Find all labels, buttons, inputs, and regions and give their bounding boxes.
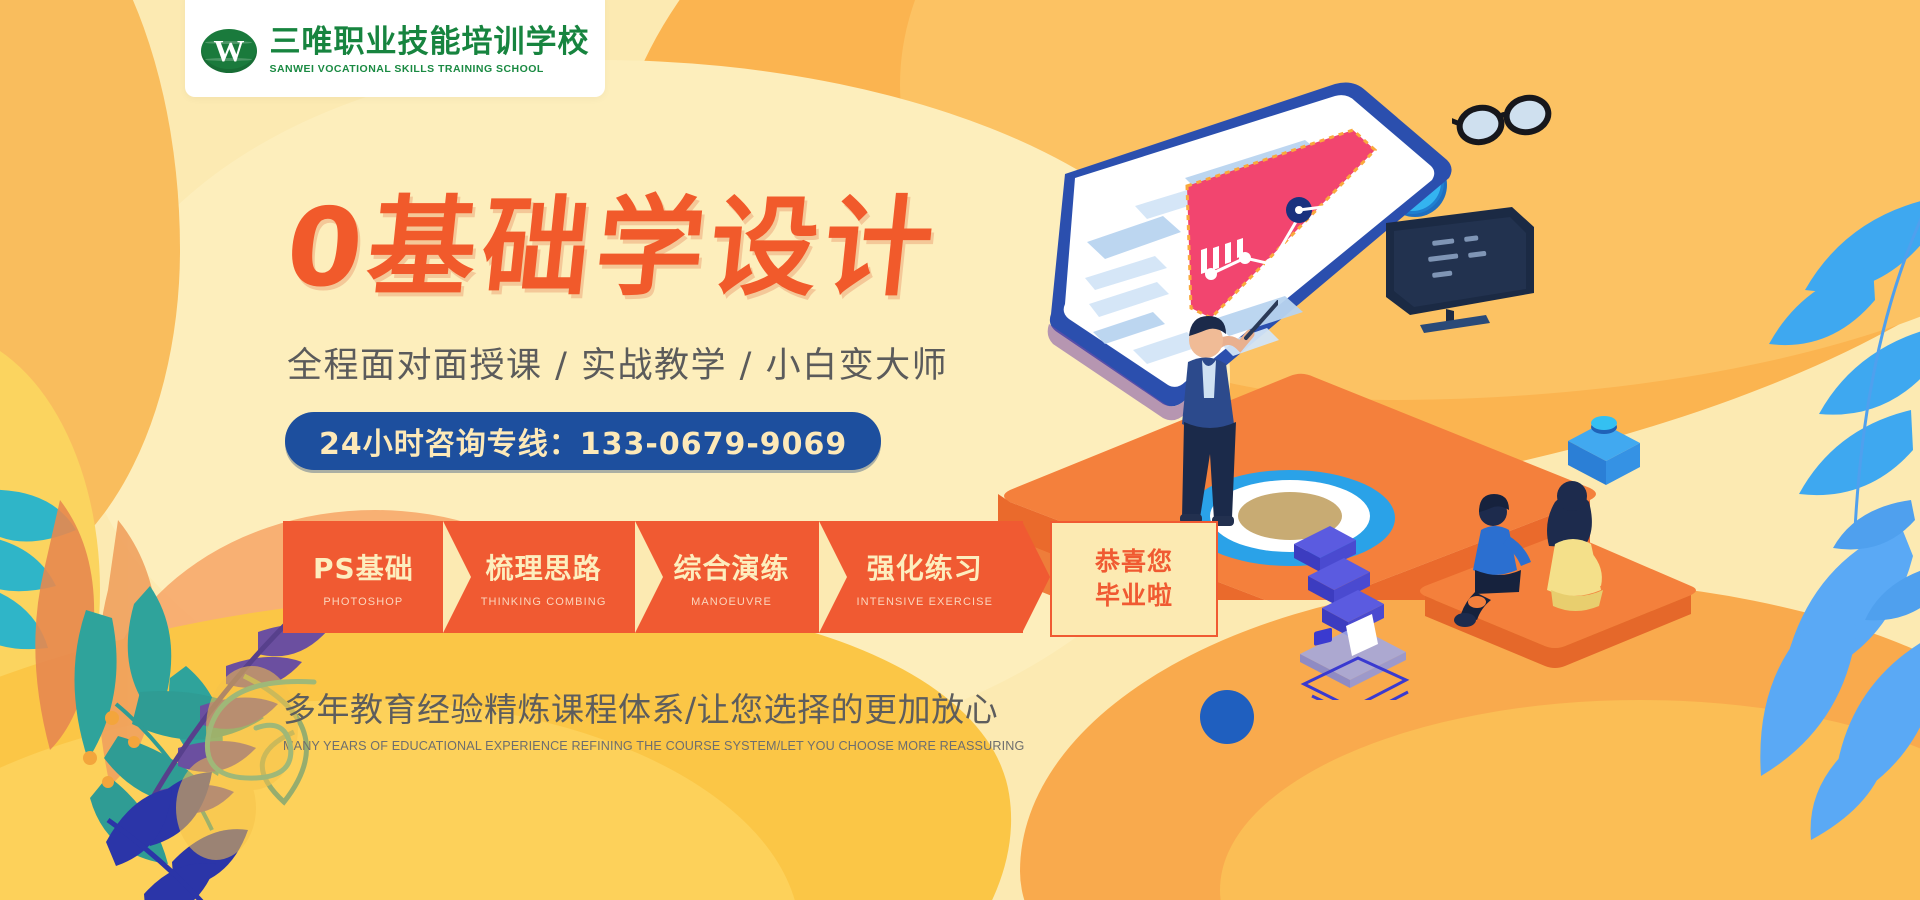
brand-name-en: SANWEI VOCATIONAL SKILLS TRAINING SCHOOL: [270, 64, 590, 75]
hero-subtitle: 全程面对面授课 / 实战教学 / 小白变大师: [287, 337, 948, 388]
step-label-cn: 综合演练: [673, 547, 789, 587]
step-label-en: PHOTOSHOP: [323, 596, 403, 608]
footer-tagline: 多年教育经验精炼课程体系/让您选择的更加放心 MANY YEARS OF EDU…: [283, 690, 1024, 753]
hotline-label: 24小时咨询专线：133-0679-9069: [319, 419, 847, 463]
brand-logo: W 三唯职业技能培训学校 SANWEI VOCATIONAL SKILLS TR…: [201, 17, 590, 75]
step-notch: [635, 521, 663, 633]
step-notch: [443, 521, 471, 633]
promo-banner: W 三唯职业技能培训学校 SANWEI VOCATIONAL SKILLS TR…: [0, 0, 1920, 900]
swirl-decoration-icon: [200, 676, 320, 786]
step-label-cn: 梳理思路: [486, 547, 602, 587]
step-label-cn: PS基础: [313, 547, 414, 587]
hero-headline: 0基础学设计: [281, 195, 944, 303]
stairs-icon: [1290, 490, 1460, 700]
graduation-badge: 恭喜您 毕业啦: [1050, 521, 1218, 637]
brand-name-block: 三唯职业技能培训学校 SANWEI VOCATIONAL SKILLS TRAI…: [270, 27, 590, 75]
brand-name-cn: 三唯职业技能培训学校: [270, 27, 590, 58]
course-steps: PS基础 PHOTOSHOP 梳理思路 THINKING COMBING 综合演…: [283, 521, 1218, 633]
step-item[interactable]: 强化练习 INTENSIVE EXERCISE: [819, 521, 1024, 633]
step-item[interactable]: 梳理思路 THINKING COMBING: [443, 521, 637, 633]
graduation-line-2: 毕业啦: [1095, 579, 1173, 613]
step-label-cn: 强化练习: [867, 547, 983, 587]
tagline-en: MANY YEARS OF EDUCATIONAL EXPERIENCE REF…: [283, 739, 1024, 753]
step-label-en: INTENSIVE EXERCISE: [857, 596, 994, 608]
plant-leaves-icon: [1625, 80, 1920, 840]
step-item[interactable]: PS基础 PHOTOSHOP: [283, 521, 444, 633]
step-notch: [819, 521, 847, 633]
brand-logo-card[interactable]: W 三唯职业技能培训学校 SANWEI VOCATIONAL SKILLS TR…: [185, 0, 605, 97]
graduation-line-1: 恭喜您: [1095, 545, 1173, 579]
tagline-cn: 多年教育经验精炼课程体系/让您选择的更加放心: [283, 690, 1024, 730]
step-label-en: THINKING COMBING: [481, 596, 607, 608]
step-item[interactable]: 综合演练 MANOEUVRE: [635, 521, 819, 633]
hero-content: 0基础学设计 全程面对面授课 / 实战教学 / 小白变大师 24小时咨询专线：1…: [0, 0, 1250, 900]
monitor-icon: [1380, 205, 1540, 340]
hotline-cta[interactable]: 24小时咨询专线：133-0679-9069: [285, 412, 881, 470]
glasses-icon: [1452, 92, 1557, 148]
step-label-en: MANOEUVRE: [691, 596, 772, 608]
w-emblem-icon: W: [201, 29, 257, 73]
logo-letter: W: [201, 29, 257, 73]
